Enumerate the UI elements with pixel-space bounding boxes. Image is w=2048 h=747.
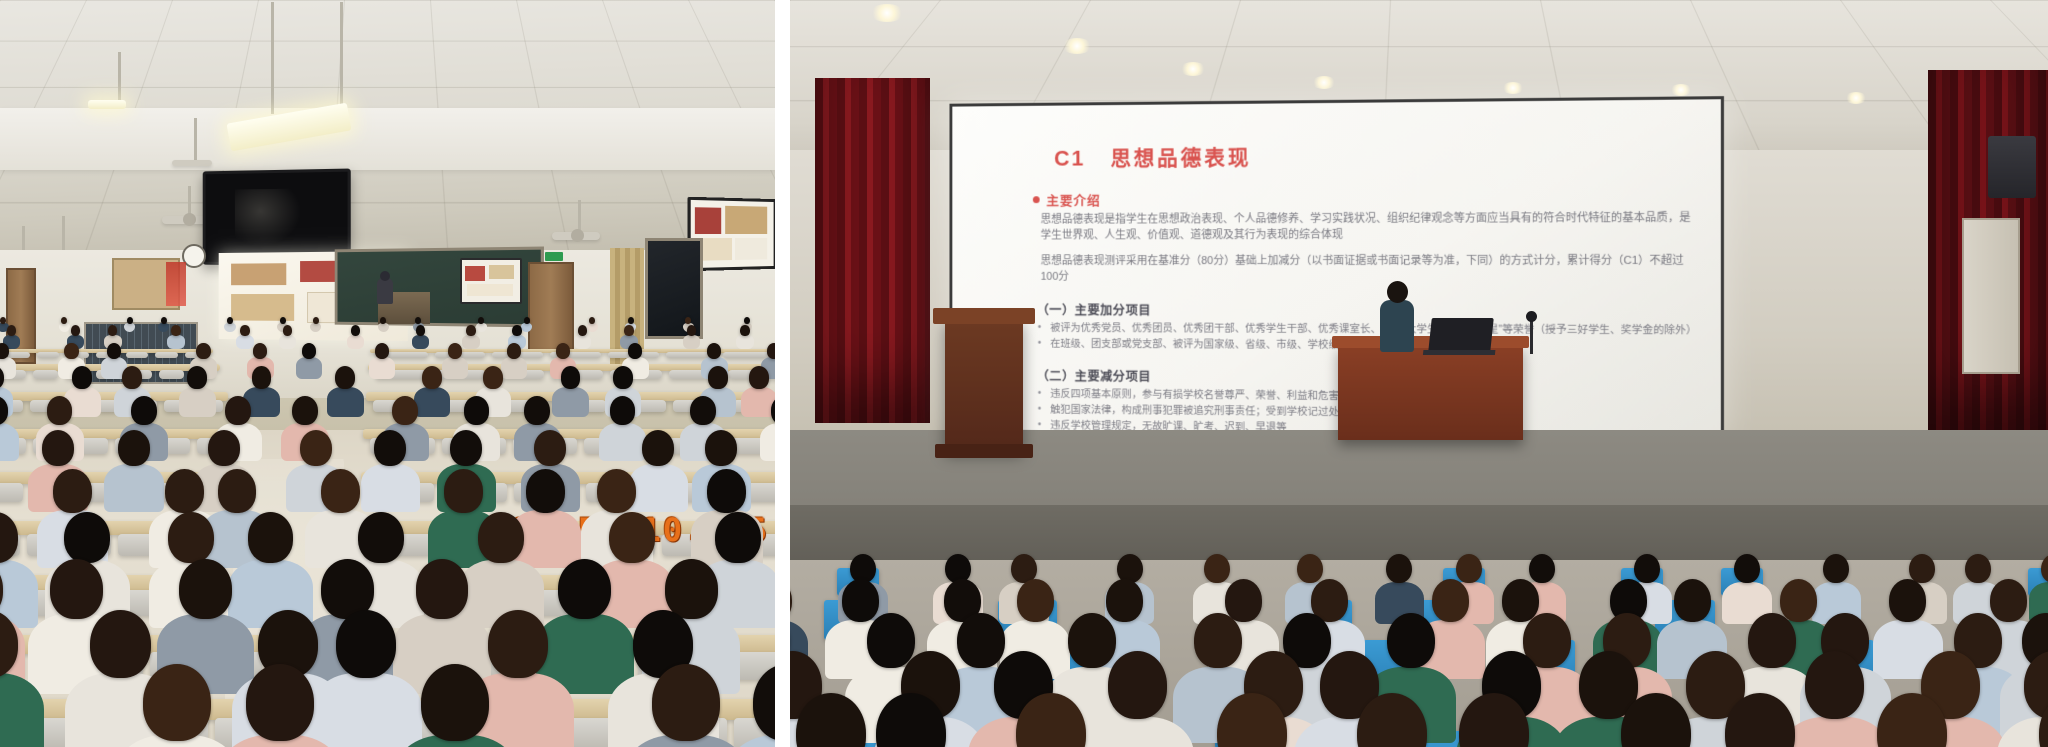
right-door bbox=[528, 262, 574, 352]
audience-member bbox=[652, 664, 720, 740]
ceiling-spotlight bbox=[870, 4, 904, 22]
audience-member bbox=[161, 317, 167, 324]
audience-member bbox=[392, 396, 418, 425]
audience-member bbox=[767, 343, 775, 359]
audience-member-torso bbox=[552, 387, 589, 417]
audience-member bbox=[292, 396, 318, 425]
audience-member bbox=[1909, 554, 1935, 584]
audience-member bbox=[526, 469, 565, 512]
audience-member bbox=[107, 343, 121, 359]
ceiling-spotlight bbox=[1845, 92, 1867, 104]
audience-member-torso bbox=[629, 464, 688, 512]
audience-member-torso bbox=[462, 335, 480, 349]
audience-member bbox=[248, 512, 294, 563]
audience-member bbox=[1204, 554, 1230, 584]
slide-heading: 思想品德表现 bbox=[1110, 142, 1251, 173]
audience-member bbox=[61, 317, 67, 324]
audience-member bbox=[628, 343, 642, 359]
monitor-panel bbox=[695, 207, 721, 234]
exit-sign bbox=[545, 252, 563, 261]
audience-member bbox=[208, 430, 240, 466]
audience-member bbox=[642, 430, 674, 466]
audience-member bbox=[240, 325, 249, 336]
audience-member bbox=[1734, 554, 1760, 584]
audience-member bbox=[1823, 554, 1849, 584]
audience-member-torso bbox=[167, 335, 185, 349]
ceiling-fan-hub bbox=[571, 229, 584, 242]
slide-section-label: 主要介绍 bbox=[1046, 190, 1100, 209]
audience-member bbox=[597, 469, 636, 512]
audience-member bbox=[707, 469, 746, 512]
audience-member-torso bbox=[414, 387, 451, 417]
audience-member bbox=[464, 396, 490, 425]
audience-member bbox=[1805, 651, 1864, 719]
chair bbox=[37, 352, 60, 358]
audience-member-torso bbox=[683, 335, 701, 349]
audience-member-torso bbox=[224, 323, 235, 332]
audience-member bbox=[302, 343, 316, 359]
auditorium-presentation-photo: C1 思想品德表现 主要介绍 思想品德表现是指学生在思想政治表现、个人品德修养、… bbox=[790, 0, 2048, 747]
loudspeaker bbox=[1988, 136, 2036, 198]
audience-member bbox=[842, 579, 879, 622]
ceiling-spotlight bbox=[1670, 84, 1692, 96]
monitor-panel bbox=[735, 238, 767, 261]
podium bbox=[945, 318, 1023, 450]
ceiling-fan-hub bbox=[183, 213, 196, 226]
audience-member bbox=[171, 325, 180, 336]
audience-member bbox=[507, 343, 521, 359]
chair bbox=[159, 370, 183, 379]
audience-member bbox=[53, 469, 92, 512]
audience-member bbox=[374, 430, 406, 466]
audience-member bbox=[71, 325, 80, 336]
audience-member bbox=[1194, 613, 1242, 668]
audience-member bbox=[321, 469, 360, 512]
audience-member bbox=[558, 559, 611, 618]
audience-member bbox=[466, 325, 475, 336]
audience-member bbox=[351, 325, 360, 336]
audience-member-torso bbox=[347, 335, 365, 349]
audience-member bbox=[218, 469, 257, 512]
fan-rod bbox=[194, 118, 197, 162]
audience-member bbox=[705, 430, 737, 466]
slide-title-row: C1 思想品德表现 bbox=[1054, 138, 1694, 172]
audience-member bbox=[450, 430, 482, 466]
stage-curtain-left bbox=[815, 78, 930, 423]
audience-member bbox=[7, 325, 16, 336]
audience-member bbox=[300, 430, 332, 466]
monitor-panel bbox=[725, 206, 767, 234]
audience-member-torso bbox=[179, 387, 216, 417]
audience-member bbox=[1432, 579, 1469, 622]
audience-member-torso bbox=[736, 335, 754, 349]
audience-member bbox=[1529, 554, 1555, 584]
audience-member bbox=[1387, 613, 1435, 668]
slide-paragraph: 思想品德表现是指学生在思想政治表现、个人品德修养、学习实践状况、组织纪律观念等方… bbox=[1041, 211, 1694, 244]
audience-member bbox=[444, 469, 483, 512]
audience-member bbox=[957, 613, 1005, 668]
audience-member-torso bbox=[476, 323, 487, 332]
audience-member bbox=[143, 664, 211, 740]
audience-member bbox=[665, 559, 718, 618]
audience-member bbox=[108, 325, 117, 336]
presentation-slide: C1 思想品德表现 主要介绍 思想品德表现是指学生在思想政治表现、个人品德修养、… bbox=[952, 99, 1721, 437]
audience-member bbox=[1386, 554, 1412, 584]
audience-member-torso bbox=[327, 387, 364, 417]
audience-member bbox=[168, 512, 214, 563]
monitor-panel bbox=[465, 266, 485, 281]
audience-member-torso bbox=[104, 464, 163, 512]
audience-member-torso bbox=[236, 335, 254, 349]
laptop bbox=[1428, 318, 1494, 352]
audience-member bbox=[1674, 579, 1711, 622]
audience-member bbox=[47, 396, 73, 425]
audience-member bbox=[1889, 579, 1926, 622]
audience-member bbox=[556, 343, 570, 359]
audience-member bbox=[280, 317, 286, 324]
audience-member bbox=[867, 613, 915, 668]
audience-member bbox=[687, 325, 696, 336]
light-rod bbox=[118, 52, 121, 100]
audience-member bbox=[42, 430, 74, 466]
audience-member bbox=[628, 317, 634, 324]
seated-presenter bbox=[1380, 300, 1414, 352]
red-banner bbox=[166, 262, 186, 306]
audience-member bbox=[1068, 613, 1116, 668]
audience-member-torso bbox=[574, 335, 592, 349]
audience-member bbox=[0, 317, 6, 324]
audience-member bbox=[740, 325, 749, 336]
audience-member-torso bbox=[442, 357, 468, 378]
audience-member bbox=[524, 317, 530, 324]
audience-member-torso bbox=[279, 335, 297, 349]
light-rod bbox=[271, 2, 274, 114]
audience-member bbox=[358, 512, 404, 563]
audience-member bbox=[589, 317, 595, 324]
audience-member bbox=[685, 317, 691, 324]
audience-member bbox=[448, 343, 462, 359]
audience-member bbox=[179, 559, 232, 618]
audience-member bbox=[1990, 579, 2027, 622]
audience-member bbox=[1456, 554, 1482, 584]
chair bbox=[126, 352, 149, 358]
window bbox=[645, 238, 703, 339]
ceiling-spotlight bbox=[1312, 76, 1336, 89]
slide-code: C1 bbox=[1054, 146, 1085, 172]
audience-member bbox=[252, 366, 272, 388]
ceiling-spotlight bbox=[1502, 82, 1524, 94]
audience-member bbox=[1780, 579, 1817, 622]
audience-member bbox=[196, 343, 210, 359]
fluorescent-light bbox=[88, 100, 126, 109]
audience-member bbox=[1748, 613, 1796, 668]
audience-member bbox=[488, 610, 548, 678]
chair bbox=[0, 483, 23, 502]
audience-member bbox=[335, 366, 355, 388]
audience-member bbox=[227, 317, 233, 324]
audience-member bbox=[416, 325, 425, 336]
audience-member bbox=[64, 512, 110, 563]
audience-member bbox=[609, 512, 655, 563]
audience-member bbox=[421, 664, 489, 740]
audience-member bbox=[690, 396, 716, 425]
audience-member bbox=[253, 343, 267, 359]
audience-member bbox=[131, 396, 157, 425]
audience-member-torso bbox=[412, 335, 430, 349]
audience-member bbox=[749, 366, 769, 388]
slide-bullet-main-intro: 主要介绍 bbox=[1033, 187, 1694, 209]
audience-member-torso bbox=[599, 423, 647, 462]
microphone bbox=[1530, 318, 1533, 354]
audience-member bbox=[478, 317, 484, 324]
two-photo-composite: 2025. 10. 15 15:59 C1 思想品德表现 bbox=[0, 0, 2048, 747]
audience-member bbox=[246, 664, 314, 740]
audience-member bbox=[90, 610, 150, 678]
audience-member-torso bbox=[741, 387, 775, 417]
audience-member bbox=[416, 559, 469, 618]
audience-member bbox=[561, 366, 581, 388]
audience-member bbox=[744, 317, 750, 324]
audience-member bbox=[610, 396, 636, 425]
audience-member-torso bbox=[311, 673, 423, 747]
bullet-dot-icon bbox=[1033, 196, 1040, 203]
audience-member-torso bbox=[369, 357, 395, 378]
presenter-table bbox=[1338, 345, 1523, 440]
monitor-panel bbox=[489, 265, 515, 279]
audience-member bbox=[336, 610, 396, 678]
audience-member bbox=[415, 317, 421, 324]
audience-member bbox=[187, 366, 207, 388]
audience-member bbox=[624, 325, 633, 336]
audience-member bbox=[122, 366, 142, 388]
audience-member bbox=[524, 396, 550, 425]
side-wall-monitor bbox=[460, 258, 522, 304]
audience-member-torso bbox=[361, 464, 420, 512]
audience-member bbox=[313, 317, 319, 324]
audience-member bbox=[707, 343, 721, 359]
audience-member bbox=[118, 430, 150, 466]
audience-member bbox=[127, 317, 133, 324]
audience-member bbox=[1106, 579, 1143, 622]
slide-panel bbox=[231, 263, 286, 286]
projection-screen: C1 思想品德表现 主要介绍 思想品德表现是指学生在思想政治表现、个人品德修养、… bbox=[949, 96, 1724, 440]
monitor-panel bbox=[467, 284, 513, 296]
slide-paragraph: 思想品德表现测评采用在基准分（80分）基础上加减分（以书面证据或书面记录等为准，… bbox=[1041, 254, 1694, 287]
audience-member bbox=[72, 366, 92, 388]
hall-door bbox=[1962, 218, 2020, 374]
audience-member bbox=[1017, 579, 1054, 622]
audience-member bbox=[380, 317, 386, 324]
audience-member-torso bbox=[501, 357, 527, 378]
audience-member bbox=[1502, 579, 1539, 622]
slide-section-label: （一）主要加分项目 bbox=[1037, 299, 1694, 320]
audience-member bbox=[1108, 651, 1167, 719]
audience-member bbox=[283, 325, 292, 336]
audience-member bbox=[165, 469, 204, 512]
light-rod bbox=[340, 2, 343, 114]
chair bbox=[33, 370, 57, 379]
audience-member bbox=[64, 343, 78, 359]
audience-member bbox=[422, 366, 442, 388]
audience-member bbox=[534, 430, 566, 466]
audience-member bbox=[1225, 579, 1262, 622]
ceiling-fan bbox=[172, 160, 212, 166]
ceiling-spotlight bbox=[1180, 62, 1206, 76]
audience-member-torso bbox=[587, 323, 598, 332]
presenter bbox=[377, 278, 393, 304]
audience-member bbox=[225, 396, 251, 425]
audience-member bbox=[478, 512, 524, 563]
audience-member bbox=[50, 559, 103, 618]
tv-screen-reflection bbox=[235, 189, 300, 245]
audience-member bbox=[1965, 554, 1991, 584]
audience-member bbox=[715, 512, 761, 563]
audience-member bbox=[375, 343, 389, 359]
audience-member bbox=[708, 366, 728, 388]
audience-member-torso bbox=[59, 323, 70, 332]
audience-member bbox=[578, 325, 587, 336]
lecture-hall-audience-photo: 2025. 10. 15 15:59 bbox=[0, 0, 775, 747]
chair bbox=[155, 352, 178, 358]
ceiling-beam bbox=[0, 108, 775, 170]
audience-member bbox=[613, 366, 633, 388]
audience-member bbox=[1297, 554, 1323, 584]
audience-member bbox=[512, 325, 521, 336]
ceiling-spotlight bbox=[1062, 38, 1092, 54]
audience-member bbox=[1634, 554, 1660, 584]
audience-member-torso bbox=[296, 357, 322, 378]
audience-member bbox=[483, 366, 503, 388]
